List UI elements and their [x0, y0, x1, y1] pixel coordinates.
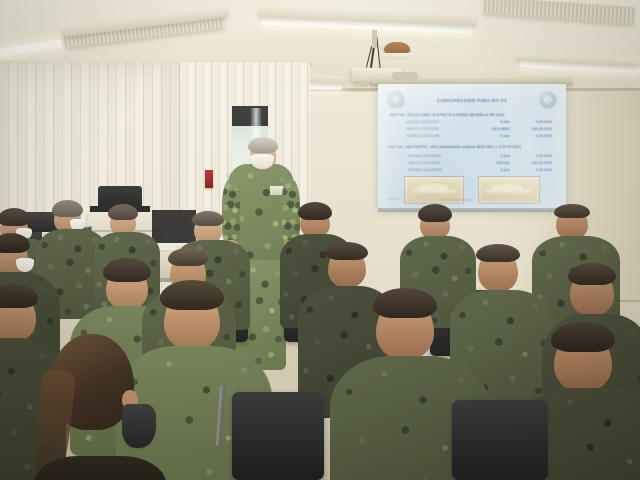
attendee-hair — [192, 211, 224, 226]
projection-screen: ZABEZPECENIE PaHJ DO PZ REF NO. SKLAD DM… — [378, 84, 566, 210]
attendee-hair — [108, 204, 138, 220]
screen-glare — [378, 84, 566, 210]
attendee-hair — [476, 244, 520, 262]
ceiling-speaker-center — [384, 42, 410, 55]
attendee-hair — [418, 204, 452, 222]
chair-front-right — [452, 400, 548, 480]
presenter-sleeve-left — [222, 180, 240, 246]
presenter-hair — [248, 137, 278, 153]
attendee-hair — [52, 200, 83, 217]
attendee-face-mask — [122, 404, 156, 448]
briefing-room-photo: ZABEZPECENIE PaHJ DO PZ REF NO. SKLAD DM… — [0, 0, 640, 480]
attendee-hair — [298, 202, 332, 220]
poster-red — [205, 170, 213, 188]
attendee-hair — [326, 242, 368, 260]
projector-lens — [358, 80, 370, 87]
screen-bottom-bar — [378, 208, 566, 212]
attendee-hair — [103, 258, 151, 282]
chair-front-center — [232, 392, 324, 480]
screen-housing-bracket — [392, 72, 418, 80]
attendee-hair — [373, 288, 437, 318]
projector-mount — [372, 30, 377, 48]
attendee-hair — [160, 280, 224, 310]
attendee-hair — [551, 322, 615, 352]
attendee-hair — [568, 263, 616, 285]
attendee-hair — [168, 248, 208, 266]
attendee-hair — [0, 208, 30, 226]
attendee-hair — [554, 204, 590, 218]
